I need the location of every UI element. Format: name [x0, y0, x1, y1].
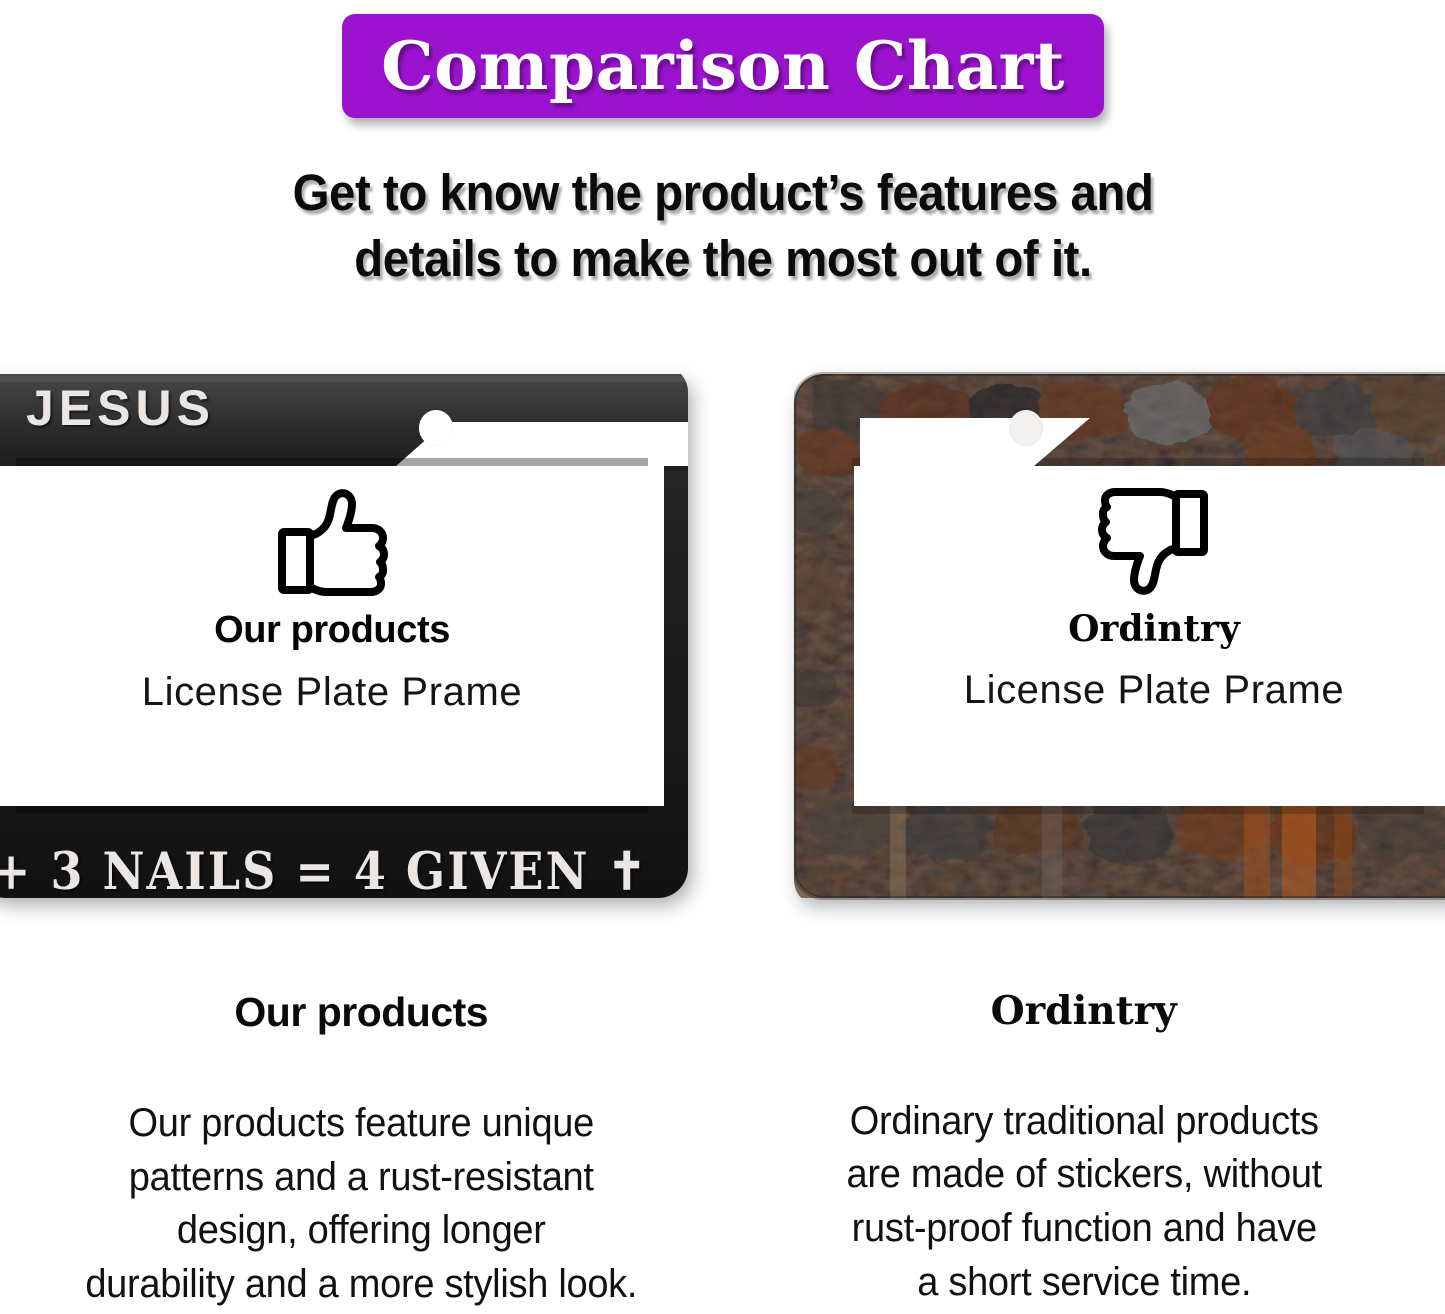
comparison-body-ours-line-2: design, offering longer	[43, 1204, 680, 1258]
comparison-heading-ours: Our products	[26, 990, 697, 1035]
comparison-body-ours-line-1: patterns and a rust-resistant	[43, 1151, 680, 1205]
comparison-columns: Our products Our products feature unique…	[0, 990, 1445, 1311]
comparison-body-ours: Our products feature unique patterns and…	[26, 1097, 697, 1311]
comparison-body-ordinary-line-1: are made of stickers, without	[765, 1148, 1402, 1202]
screw-hole-right	[1009, 410, 1043, 446]
frame-bottom-lettering: + 3 NAILS = 4 GIVEN ✝	[0, 841, 664, 901]
comparison-body-ours-line-3: durability and a more stylish look.	[43, 1258, 680, 1312]
comparison-body-ordinary-line-3: a short service time.	[765, 1256, 1402, 1310]
product-image-ordinary: Ordintry License Plate Prame	[794, 366, 1445, 906]
comparison-body-ordinary: Ordinary traditional products are made o…	[749, 1095, 1420, 1309]
frame-top-lettering: JESUS	[26, 379, 215, 437]
comparison-heading-ordinary: Ordintry	[749, 990, 1420, 1033]
comparison-body-ours-line-0: Our products feature unique	[43, 1097, 680, 1151]
black-license-plate-frame	[0, 366, 688, 906]
comparison-chart-page: Comparison Chart Get to know the product…	[0, 0, 1445, 1314]
comparison-body-ordinary-line-2: rust-proof function and have	[765, 1202, 1402, 1256]
comparison-column-ours: Our products Our products feature unique…	[0, 990, 723, 1311]
rusted-license-plate-frame	[794, 366, 1445, 906]
comparison-column-ordinary: Ordintry Ordinary traditional products a…	[723, 990, 1445, 1311]
product-image-ours: JESUS + 3 NAILS = 4 GIVEN ✝ Our products…	[0, 366, 688, 906]
screw-hole-left	[419, 410, 453, 446]
comparison-body-ordinary-line-0: Ordinary traditional products	[765, 1095, 1402, 1149]
